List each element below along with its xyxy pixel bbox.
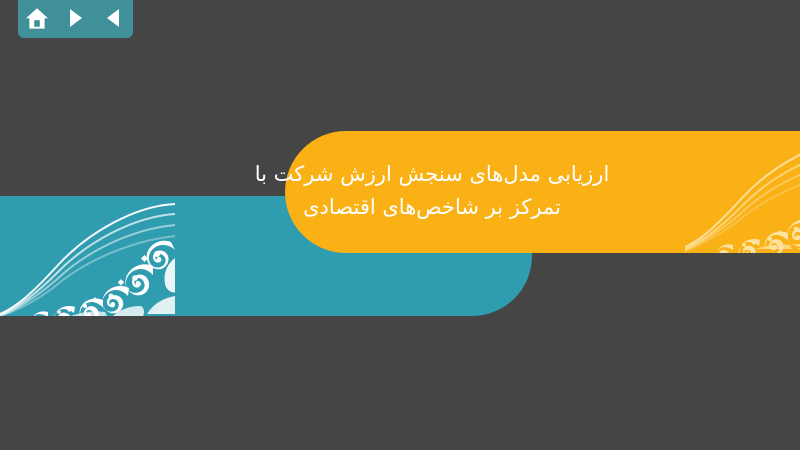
home-button[interactable] <box>22 4 52 32</box>
triangle-right-icon <box>69 8 83 28</box>
slide-canvas: ارزیابی مدل‌های سنجش ارزش شرکت با تمرکز … <box>0 0 800 450</box>
next-button[interactable] <box>61 4 91 32</box>
previous-button[interactable] <box>99 4 129 32</box>
navigation-bar <box>18 0 133 38</box>
triangle-left-icon <box>105 8 123 28</box>
arabesque-ornament <box>0 196 175 316</box>
home-icon <box>25 7 49 30</box>
page-title: ارزیابی مدل‌های سنجش ارزش شرکت با تمرکز … <box>152 158 712 223</box>
